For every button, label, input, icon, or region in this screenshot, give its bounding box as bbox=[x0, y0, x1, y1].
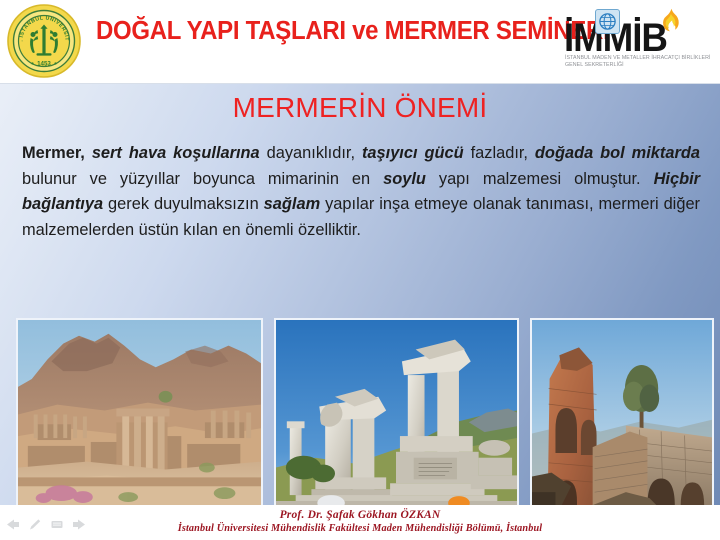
paragraph-run-0: Mermer, bbox=[22, 144, 92, 162]
photo-stone-arches-sunset bbox=[530, 318, 714, 508]
paragraph-run-7: soylu bbox=[383, 170, 439, 188]
next-arrow-icon[interactable] bbox=[72, 518, 86, 531]
photo-row bbox=[0, 300, 720, 512]
immib-subtitle: İSTANBUL MADEN VE METALLER İHRACATÇI BİR… bbox=[565, 55, 715, 70]
seal-year: 1453 bbox=[37, 61, 51, 68]
paragraph-run-2: dayanıklıdır, bbox=[267, 144, 362, 162]
presenter-affiliation: İstanbul Üniversitesi Mühendislik Fakült… bbox=[0, 522, 720, 536]
presenter-name: Prof. Dr. Şafak Gökhan ÖZKAN bbox=[0, 508, 720, 522]
presentation-slide: T.C. İSTANBUL ÜNİVERSİTESİ 1453 DOĞAL YA… bbox=[0, 0, 720, 540]
flame-icon bbox=[660, 8, 680, 32]
header-divider bbox=[0, 83, 720, 84]
seminar-title: DOĞAL YAPI TAŞLARI ve MERMER SEMİNERİ bbox=[96, 17, 538, 46]
page-title: MERMERİN ÖNEMİ bbox=[0, 92, 720, 124]
footer: Prof. Dr. Şafak Gökhan ÖZKAN İstanbul Ün… bbox=[0, 508, 720, 536]
paragraph-run-3: taşıyıcı gücü bbox=[362, 144, 471, 162]
globe-icon bbox=[595, 9, 620, 34]
slide-header: T.C. İSTANBUL ÜNİVERSİTESİ 1453 DOĞAL YA… bbox=[0, 0, 720, 84]
paragraph-run-8: yapı malzemesi olmuştur. bbox=[439, 170, 654, 188]
paragraph-run-6: bulunur ve yüzyıllar boyunca mimarinin e… bbox=[22, 170, 383, 188]
paragraph-run-5: doğada bol miktarda bbox=[535, 144, 700, 162]
photo-marble-columns bbox=[274, 318, 519, 509]
paragraph-run-1: sert hava koşullarına bbox=[92, 144, 267, 162]
paragraph-run-11: sağlam bbox=[264, 195, 325, 213]
previous-arrow-icon[interactable] bbox=[6, 518, 20, 531]
istanbul-university-seal-icon: T.C. İSTANBUL ÜNİVERSİTESİ 1453 bbox=[6, 3, 82, 79]
pen-icon[interactable] bbox=[28, 518, 42, 531]
menu-icon[interactable] bbox=[50, 518, 64, 531]
paragraph-run-10: gerek duyulmaksızın bbox=[108, 195, 264, 213]
body-paragraph: Mermer, sert hava koşullarına dayanıklıd… bbox=[22, 141, 700, 243]
paragraph-run-4: fazladır, bbox=[471, 144, 535, 162]
immib-logo: İMMİB İSTANBUL MADEN VE METALLER İHRACAT… bbox=[564, 8, 716, 76]
viewer-nav[interactable] bbox=[6, 518, 86, 531]
photo-ancient-ruins-desert bbox=[16, 318, 263, 508]
